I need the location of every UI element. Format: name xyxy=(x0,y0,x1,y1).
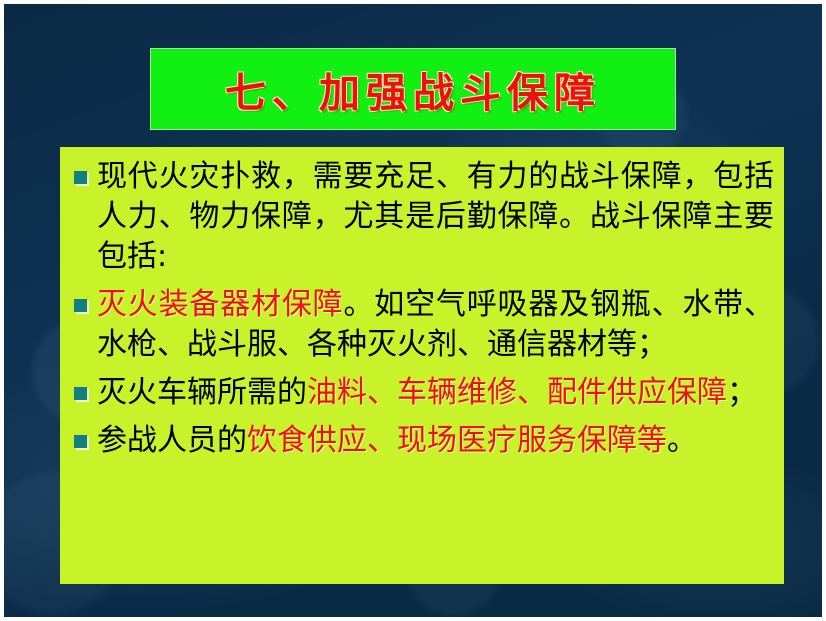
bullet-text: 参战人员的饮食供应、现场医疗服务保障等。 xyxy=(97,421,774,461)
square-bullet-icon xyxy=(74,435,87,448)
square-bullet-icon xyxy=(74,299,87,312)
slide-content-panel: 现代火灾扑救，需要充足、有力的战斗保障，包括人力、物力保障，尤其是后勤保障。战斗… xyxy=(60,147,784,584)
bullet-segment-highlight: 油料、车辆维修、配件供应保障 xyxy=(307,375,727,410)
slide-title-banner: 七、加强战斗保障 xyxy=(150,48,676,130)
bullet-segment-highlight: 灭火装备器材保障 xyxy=(97,287,343,322)
bullet-segment: 现代火灾扑救，需要充足、有力的战斗保障，包括人力、物力保障，尤其是后勤保障。战斗… xyxy=(97,159,774,274)
bullet-text: 灭火车辆所需的油料、车辆维修、配件供应保障； xyxy=(97,373,774,413)
presentation-slide: 七、加强战斗保障 现代火灾扑救，需要充足、有力的战斗保障，包括人力、物力保障，尤… xyxy=(4,4,822,617)
bullet-text: 灭火装备器材保障。如空气呼吸器及钢瓶、水带、水枪、战斗服、各种灭火剂、通信器材等… xyxy=(97,285,774,365)
bullet-segment: ； xyxy=(727,375,757,410)
bullet-item: 参战人员的饮食供应、现场医疗服务保障等。 xyxy=(74,421,774,461)
square-bullet-icon xyxy=(74,171,87,184)
bullet-item: 灭火车辆所需的油料、车辆维修、配件供应保障； xyxy=(74,373,774,413)
bullet-item: 灭火装备器材保障。如空气呼吸器及钢瓶、水带、水枪、战斗服、各种灭火剂、通信器材等… xyxy=(74,285,774,365)
square-bullet-icon xyxy=(74,387,87,400)
bullet-segment-highlight: 饮食供应、现场医疗服务保障等 xyxy=(247,423,667,458)
bullet-text: 现代火灾扑救，需要充足、有力的战斗保障，包括人力、物力保障，尤其是后勤保障。战斗… xyxy=(97,157,774,277)
slide-title-text: 七、加强战斗保障 xyxy=(225,59,601,119)
bullet-segment: 参战人员的 xyxy=(97,423,247,458)
bullet-segment: 。 xyxy=(667,423,697,458)
bullet-segment: 灭火车辆所需的 xyxy=(97,375,307,410)
bullet-item: 现代火灾扑救，需要充足、有力的战斗保障，包括人力、物力保障，尤其是后勤保障。战斗… xyxy=(74,157,774,277)
